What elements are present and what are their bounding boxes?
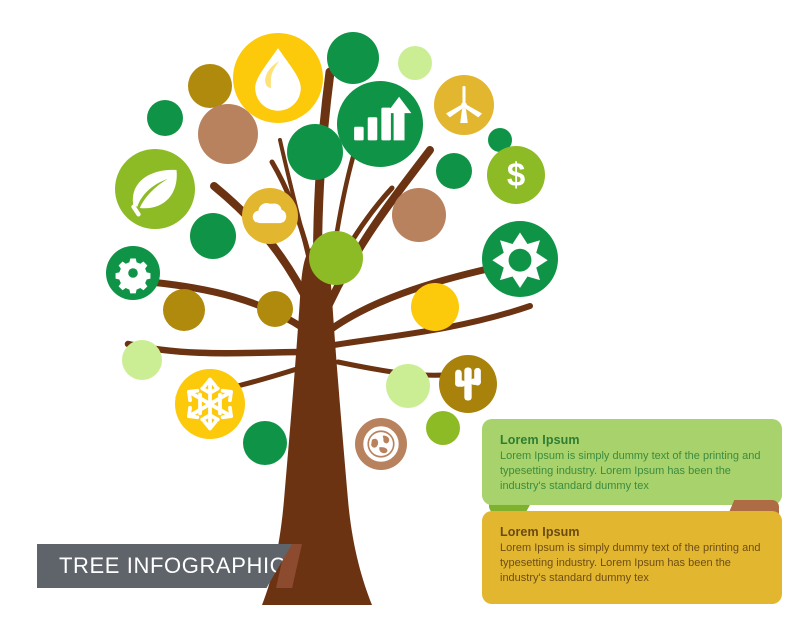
globe-icon[interactable]	[355, 418, 407, 470]
node-yellow-1	[411, 283, 459, 331]
node-tan-2	[392, 188, 446, 242]
water-drop-icon[interactable]	[233, 33, 323, 123]
node-olive-1	[309, 231, 363, 285]
gear-icon[interactable]	[106, 246, 160, 300]
dollar-sign-icon[interactable]	[487, 146, 545, 204]
node-pale-2	[122, 340, 162, 380]
cactus-icon[interactable]	[439, 355, 497, 413]
node-pale-3	[386, 364, 430, 408]
page-title: TREE INFOGRAPHIC	[59, 553, 286, 579]
infographic-canvas: $ Lorem Ipsum Lorem Ipsum is simply dumm…	[0, 0, 800, 623]
node-green-2	[327, 32, 379, 84]
wind-turbine-icon[interactable]	[434, 75, 494, 135]
node-olive-2	[426, 411, 460, 445]
node-green-1	[147, 100, 183, 136]
node-green-3	[287, 124, 343, 180]
node-ochre-2	[163, 289, 205, 331]
growth-chart-icon-disc	[337, 81, 423, 167]
callout-green[interactable]: Lorem Ipsum Lorem Ipsum is simply dummy …	[482, 419, 782, 505]
title-banner: TREE INFOGRAPHIC	[37, 544, 292, 588]
callout-yellow-body: Lorem Ipsum is simply dummy text of the …	[500, 541, 764, 587]
globe-icon-glyph	[365, 428, 396, 459]
node-tan-1	[198, 104, 258, 164]
node-green-6	[243, 421, 287, 465]
node-green-5	[190, 213, 236, 259]
growth-chart-icon[interactable]	[337, 81, 423, 167]
node-ochre-3	[257, 291, 293, 327]
callout-yellow[interactable]: Lorem Ipsum Lorem Ipsum is simply dummy …	[482, 511, 782, 604]
dollar-sign-icon-glyph	[507, 157, 525, 194]
snowflake-icon[interactable]	[175, 369, 245, 439]
callout-yellow-title: Lorem Ipsum	[500, 525, 764, 539]
sun-icon-glyph	[492, 233, 547, 288]
callout-green-body: Lorem Ipsum is simply dummy text of the …	[500, 449, 764, 495]
node-pale-1	[398, 46, 432, 80]
node-green-4	[436, 153, 472, 189]
node-ochre-1	[188, 64, 232, 108]
leaf-icon[interactable]	[115, 149, 195, 229]
cloud-icon[interactable]	[242, 188, 298, 244]
sun-icon[interactable]	[482, 221, 558, 297]
gear-icon-glyph	[116, 258, 151, 293]
callout-green-title: Lorem Ipsum	[500, 433, 764, 447]
